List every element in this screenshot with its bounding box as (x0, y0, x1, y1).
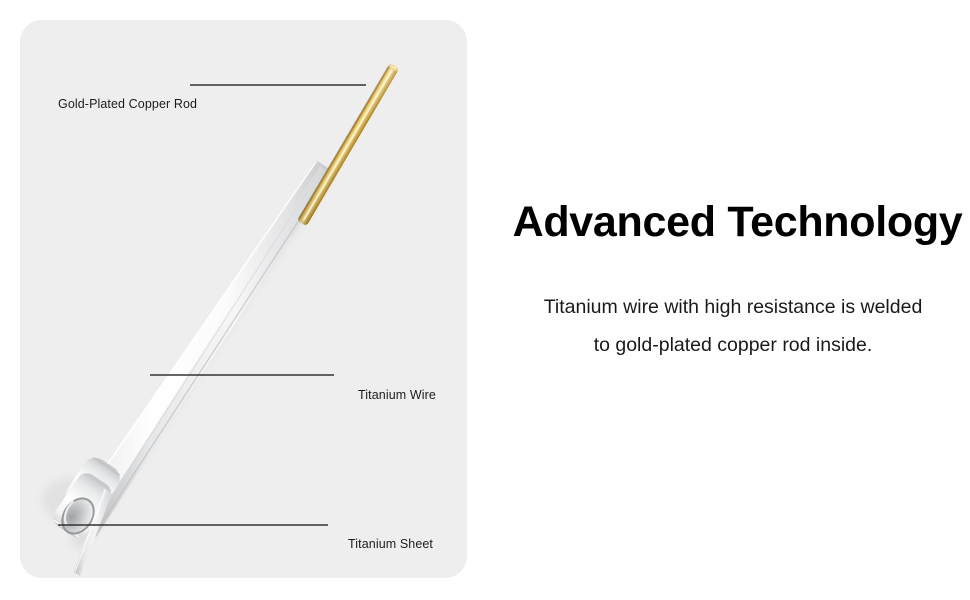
page-root: Gold-Plated Copper Rod Titanium Wire Tit… (0, 0, 970, 600)
body-copy: Titanium wire with high resistance is we… (508, 288, 958, 364)
product-illustration-card: Gold-Plated Copper Rod Titanium Wire Tit… (20, 20, 467, 578)
body-copy-line-2: to gold-plated copper rod inside. (508, 326, 958, 364)
callout-label-titanium-wire: Titanium Wire (358, 389, 436, 402)
info-panel: Advanced Technology Titanium wire with h… (490, 0, 970, 600)
callout-label-gold-plated-copper-rod: Gold-Plated Copper Rod (58, 98, 197, 111)
headline: Advanced Technology (505, 198, 970, 247)
body-copy-line-1: Titanium wire with high resistance is we… (508, 288, 958, 326)
callout-label-titanium-sheet: Titanium Sheet (348, 538, 433, 551)
